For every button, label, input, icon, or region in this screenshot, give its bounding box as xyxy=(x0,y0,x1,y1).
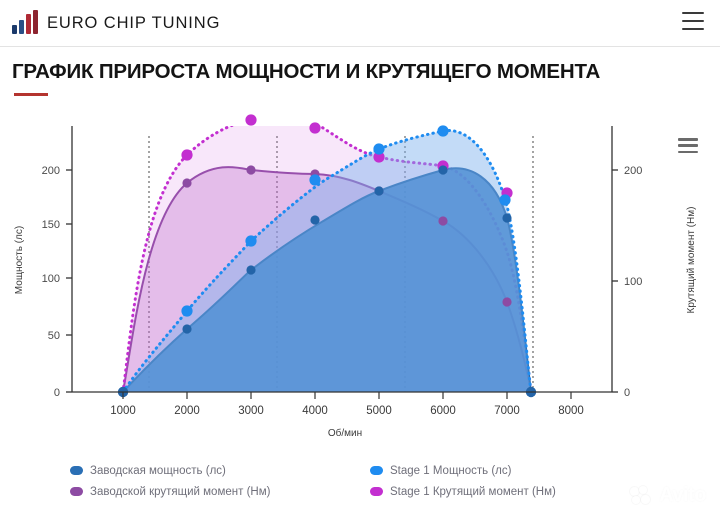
legend-swatch-icon xyxy=(370,487,383,496)
legend-item-stage1-power[interactable]: Stage 1 Мощность (лс) xyxy=(370,460,670,481)
chart-plot-area: 200 150 100 50 0 Мощность (лс) 200 100 0… xyxy=(0,108,720,448)
y-tick-150: 150 xyxy=(42,219,60,231)
brand-name: EURO CHIP TUNING xyxy=(47,14,220,33)
y-axis-right: 200 100 0 Крутящий момент (Нм) xyxy=(612,126,697,399)
page-title: ГРАФИК ПРИРОСТА МОЩНОСТИ И КРУТЯЩЕГО МОМ… xyxy=(0,46,720,84)
x-tick-8000: 8000 xyxy=(558,405,584,417)
hamburger-menu-icon[interactable] xyxy=(682,12,704,30)
x-tick-5000: 5000 xyxy=(366,405,392,417)
legend-swatch-icon xyxy=(70,487,83,496)
legend-swatch-icon xyxy=(370,466,383,475)
legend-swatch-icon xyxy=(70,466,83,475)
legend-item-stage1-torque[interactable]: Stage 1 Крутящий момент (Нм) xyxy=(370,481,670,502)
x-tick-4000: 4000 xyxy=(302,405,328,417)
x-tick-7000: 7000 xyxy=(494,405,520,417)
chart-legend: Заводская мощность (лс) Stage 1 Мощность… xyxy=(0,460,720,502)
y-axis-right-label: Крутящий момент (Нм) xyxy=(686,207,697,314)
x-tick-6000: 6000 xyxy=(430,405,456,417)
legend-label: Stage 1 Мощность (лс) xyxy=(390,465,511,477)
site-header: EURO CHIP TUNING xyxy=(0,0,720,47)
legend-item-stock-power[interactable]: Заводская мощность (лс) xyxy=(70,460,370,481)
y2-tick-0: 0 xyxy=(624,387,630,399)
title-section: ГРАФИК ПРИРОСТА МОЩНОСТИ И КРУТЯЩЕГО МОМ… xyxy=(0,46,720,96)
avito-logo-icon xyxy=(630,486,654,506)
y2-tick-100: 100 xyxy=(624,276,642,288)
y-axis-left: 200 150 100 50 0 Мощность (лс) xyxy=(14,126,72,399)
avito-watermark: Avito xyxy=(630,484,706,507)
avito-watermark-text: Avito xyxy=(659,484,706,507)
x-axis-label: Об/мин xyxy=(328,427,362,439)
title-underline-rule xyxy=(14,93,48,96)
x-tick-2000: 2000 xyxy=(174,405,200,417)
chart-svg: 200 150 100 50 0 Мощность (лс) 200 100 0… xyxy=(0,108,720,448)
legend-item-stock-torque[interactable]: Заводской крутящий момент (Нм) xyxy=(70,481,370,502)
y-tick-0: 0 xyxy=(54,387,60,399)
y-tick-200: 200 xyxy=(42,165,60,177)
x-axis: 1000 2000 3000 4000 5000 6000 7000 8000 … xyxy=(72,392,612,439)
y2-tick-200: 200 xyxy=(624,165,642,177)
legend-label: Stage 1 Крутящий момент (Нм) xyxy=(390,486,556,498)
chart-card: 200 150 100 50 0 Мощность (лс) 200 100 0… xyxy=(0,108,720,517)
legend-label: Заводская мощность (лс) xyxy=(90,465,226,477)
legend-label: Заводской крутящий момент (Нм) xyxy=(90,486,270,498)
x-tick-3000: 3000 xyxy=(238,405,264,417)
x-tick-1000: 1000 xyxy=(110,405,136,417)
bar-chart-logo-icon xyxy=(12,12,38,34)
y-axis-left-label: Мощность (лс) xyxy=(14,226,25,294)
y-tick-50: 50 xyxy=(48,330,60,342)
y-tick-100: 100 xyxy=(42,273,60,285)
brand-logo[interactable]: EURO CHIP TUNING xyxy=(0,12,220,34)
